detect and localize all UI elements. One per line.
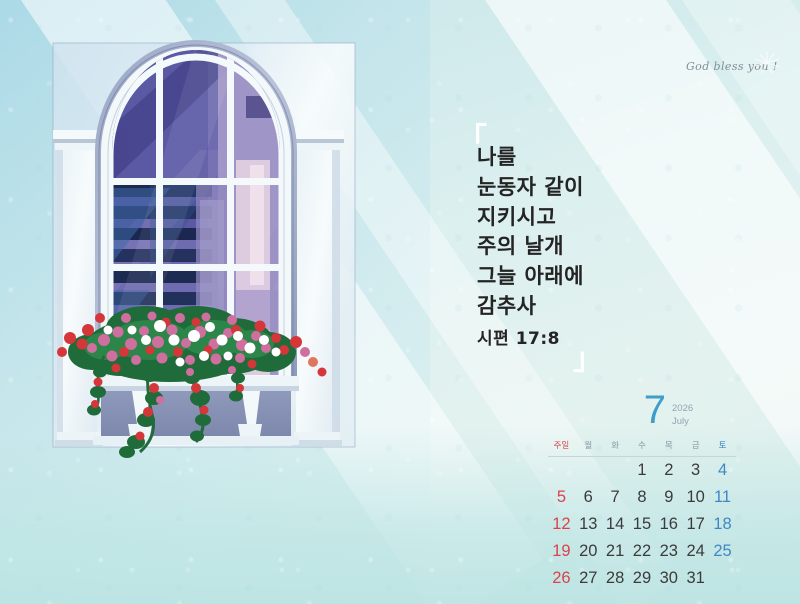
calendar-day[interactable]: 13 — [575, 511, 602, 538]
calendar-day[interactable]: 25 — [709, 538, 736, 565]
calendar-week-row: 12 13 14 15 16 17 18 — [548, 511, 736, 538]
sparkle-icon — [752, 50, 782, 76]
calendar-day[interactable]: 29 — [629, 565, 656, 592]
window-illustration — [0, 0, 430, 604]
weekday-header-thu: 목 — [655, 436, 682, 457]
calendar-day[interactable] — [709, 565, 736, 592]
calendar-year: 2026 — [672, 403, 693, 416]
calendar-page: God bless you ! 「 나를 눈동자 같이 지키시고 주의 날개 그… — [0, 0, 800, 604]
calendar-day[interactable]: 9 — [655, 484, 682, 511]
calendar-weekday-row: 주일 월 화 수 목 금 토 — [548, 436, 736, 457]
verse-close-bracket: 」 — [573, 345, 603, 375]
calendar-day[interactable] — [602, 457, 629, 485]
calendar-day[interactable]: 26 — [548, 565, 575, 592]
verse-line: 지키시고 — [477, 203, 584, 233]
weekday-header-fri: 금 — [682, 436, 709, 457]
calendar-month-number: 7 — [644, 390, 666, 430]
calendar-week-row: 19 20 21 22 23 24 25 — [548, 538, 736, 565]
calendar-day[interactable]: 18 — [709, 511, 736, 538]
calendar-day[interactable]: 28 — [602, 565, 629, 592]
calendar-day[interactable]: 2 — [655, 457, 682, 485]
verse-line: 주의 날개 — [477, 232, 584, 262]
calendar-day[interactable]: 30 — [655, 565, 682, 592]
calendar-day[interactable]: 1 — [629, 457, 656, 485]
calendar-grid: 주일 월 화 수 목 금 토 1 2 3 4 — [548, 436, 736, 592]
verse-line: 그늘 아래에 — [477, 262, 584, 292]
calendar-day[interactable]: 8 — [629, 484, 656, 511]
verse-line: 감추사 — [477, 292, 584, 322]
calendar-header: 7 2026 July — [548, 396, 736, 436]
calendar-week-row: 5 6 7 8 9 10 11 — [548, 484, 736, 511]
calendar-day[interactable]: 31 — [682, 565, 709, 592]
calendar-day[interactable]: 27 — [575, 565, 602, 592]
calendar-day[interactable]: 19 — [548, 538, 575, 565]
verse-reference: 시편 17:8 — [477, 328, 584, 350]
calendar-day[interactable]: 5 — [548, 484, 575, 511]
calendar-day[interactable]: 20 — [575, 538, 602, 565]
calendar-day[interactable] — [575, 457, 602, 485]
weekday-header-sat: 토 — [709, 436, 736, 457]
calendar-day[interactable]: 3 — [682, 457, 709, 485]
calendar-week-row: 26 27 28 29 30 31 — [548, 565, 736, 592]
calendar-month-name: July — [672, 416, 693, 429]
calendar-week-row: 1 2 3 4 — [548, 457, 736, 485]
calendar-day[interactable]: 21 — [602, 538, 629, 565]
calendar-day[interactable] — [548, 457, 575, 485]
calendar-day[interactable]: 11 — [709, 484, 736, 511]
calendar-day[interactable]: 22 — [629, 538, 656, 565]
calendar-year-month: 2026 July — [672, 403, 693, 429]
calendar-day[interactable]: 24 — [682, 538, 709, 565]
weekday-header-tue: 화 — [602, 436, 629, 457]
calendar-day[interactable]: 7 — [602, 484, 629, 511]
calendar-day[interactable]: 17 — [682, 511, 709, 538]
weekday-header-mon: 월 — [575, 436, 602, 457]
weekday-header-wed: 수 — [629, 436, 656, 457]
calendar-day[interactable]: 15 — [629, 511, 656, 538]
verse-lines: 나를 눈동자 같이 지키시고 주의 날개 그늘 아래에 감추사 시편 17:8 — [477, 143, 584, 350]
calendar-day[interactable]: 14 — [602, 511, 629, 538]
pilaster-right — [292, 130, 344, 446]
verse-line: 눈동자 같이 — [477, 173, 584, 203]
calendar-day[interactable]: 10 — [682, 484, 709, 511]
calendar-day[interactable]: 4 — [709, 457, 736, 485]
calendar-day[interactable]: 16 — [655, 511, 682, 538]
verse-line: 나를 — [477, 143, 584, 173]
calendar-widget: 7 2026 July 주일 월 화 수 목 금 토 — [548, 396, 736, 592]
weekday-header-sun: 주일 — [548, 436, 575, 457]
calendar-day[interactable]: 6 — [575, 484, 602, 511]
calendar-day[interactable]: 23 — [655, 538, 682, 565]
calendar-day[interactable]: 12 — [548, 511, 575, 538]
